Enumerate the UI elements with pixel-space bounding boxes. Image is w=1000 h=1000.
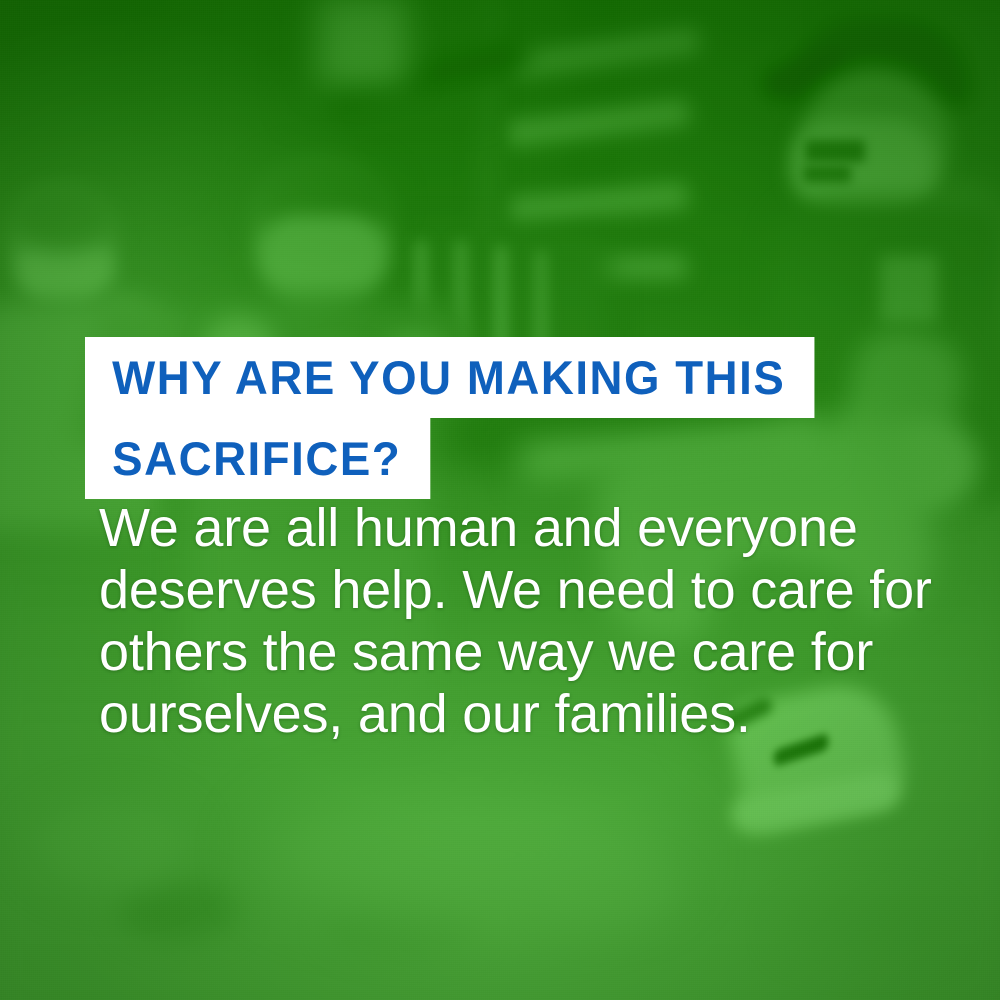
awareness-poster: WHY ARE YOU MAKING THIS SACRIFICE? We ar…	[0, 0, 1000, 1000]
body-line-2: deserves help. We need to care for	[99, 559, 899, 621]
headline-line-1: WHY ARE YOU MAKING THIS	[85, 337, 814, 418]
body-line-4: ourselves, and our families.	[99, 683, 899, 745]
body-line-1: We are all human and everyone	[99, 497, 899, 559]
headline-block: WHY ARE YOU MAKING THIS SACRIFICE?	[85, 337, 785, 499]
headline-line-2: SACRIFICE?	[85, 418, 430, 499]
body-line-3: others the same way we care for	[99, 621, 899, 683]
body-copy-block: We are all human and everyone deserves h…	[99, 497, 899, 745]
